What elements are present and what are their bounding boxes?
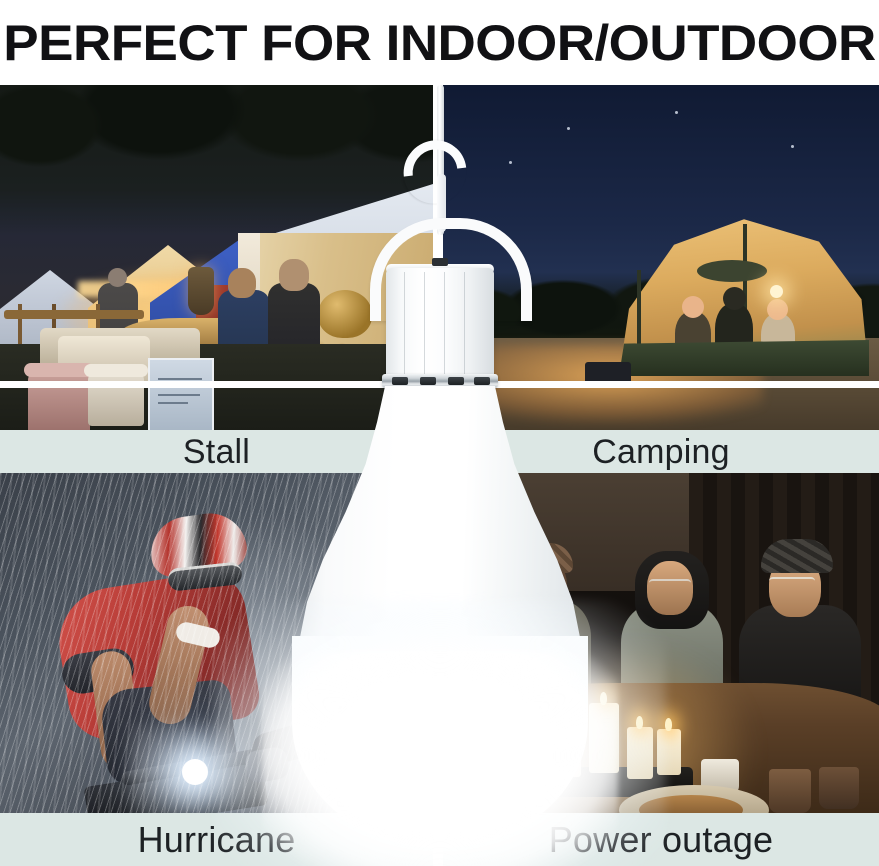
candle [627, 727, 653, 779]
camping-photo [443, 85, 879, 430]
star [791, 145, 794, 148]
panel-hurricane [0, 473, 433, 813]
hurricane-photo [0, 473, 433, 813]
panel-stall [0, 85, 433, 430]
mug [509, 775, 547, 811]
caption-stall: Stall [0, 430, 433, 473]
caption-stall-label: Stall [183, 435, 250, 469]
caption-power-outage-label: Power outage [549, 823, 774, 857]
power-outage-photo [443, 473, 879, 813]
stall-photo [0, 85, 433, 430]
caption-hurricane-label: Hurricane [138, 823, 296, 857]
basket-pink [28, 372, 90, 430]
caption-hurricane: Hurricane [0, 813, 433, 866]
panel-power-outage [443, 473, 879, 813]
candle-flame [636, 716, 643, 729]
stall-sign [148, 358, 214, 430]
candle-flame [564, 708, 571, 721]
tent-lantern [770, 285, 783, 298]
product-marketing-image: PERFECT FOR INDOOR/OUTDOOR [0, 0, 879, 866]
basket-cream [88, 372, 144, 426]
hanging-lamp [188, 267, 214, 315]
glass-bottle [517, 667, 553, 761]
mug [469, 769, 505, 805]
use-case-grid: Stall [0, 85, 879, 866]
caption-camping-label: Camping [592, 435, 729, 469]
brass-vessel [318, 290, 372, 338]
tent-vent [697, 260, 767, 282]
candle [657, 729, 681, 775]
candle [589, 703, 619, 773]
panel-camping [443, 85, 879, 430]
caption-camping: Camping [443, 430, 879, 473]
caption-power-outage: Power outage [443, 813, 879, 866]
star [509, 161, 512, 164]
headline-text: PERFECT FOR INDOOR/OUTDOOR [3, 18, 875, 68]
star [567, 127, 570, 130]
candle [555, 719, 581, 777]
candle-flame [600, 692, 607, 705]
star [675, 111, 678, 114]
rain-streaks-back [0, 473, 433, 813]
tent-skirt [619, 340, 869, 376]
page-title: PERFECT FOR INDOOR/OUTDOOR [0, 10, 879, 76]
candle-flame [665, 718, 672, 731]
mug [819, 767, 859, 809]
mug [769, 769, 811, 813]
camp-cooler [585, 362, 631, 384]
